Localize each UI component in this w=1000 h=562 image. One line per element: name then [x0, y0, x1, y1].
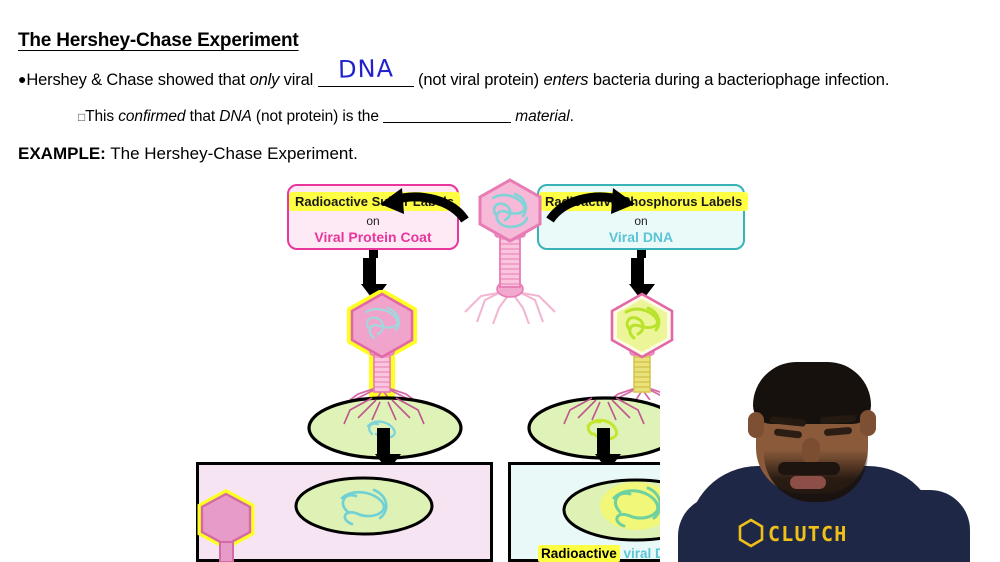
example-text: The Hershey-Chase Experiment.: [106, 144, 358, 163]
sub-italic-confirmed: confirmed: [118, 108, 185, 125]
bullet-text-mid2: (not viral protein): [414, 71, 544, 89]
left-box-stub: [369, 250, 378, 258]
fill-in-blank-dna[interactable]: DNA: [318, 68, 414, 87]
presenter-mustache: [778, 462, 840, 475]
main-bullet-line: ●Hershey & Chase showed that only viral …: [18, 68, 889, 90]
presenter-nose: [802, 438, 820, 464]
presenter-ear-left: [748, 412, 764, 438]
presenter-mouth: [790, 476, 826, 489]
sub-italic-material: material: [515, 108, 569, 125]
sub-text-before: This: [85, 108, 118, 125]
clutch-hexagon-logo-icon: [738, 518, 764, 548]
right-panel-caption-highlight: Radioactive: [538, 545, 620, 562]
sub-italic-dna: DNA: [219, 108, 251, 125]
sub-text-after: .: [570, 108, 574, 125]
bullet-text-after: bacteria during a bacteriophage infectio…: [588, 71, 889, 89]
left-panel-contents: [196, 462, 493, 562]
arrow-to-right-box: [545, 186, 635, 236]
example-line: EXAMPLE: The Hershey-Chase Experiment.: [18, 144, 358, 164]
bullet-italic-enters: enters: [543, 71, 588, 89]
sub-text-mid1: that: [185, 108, 219, 125]
arrow-to-left-box: [380, 186, 470, 236]
page-title: The Hershey-Chase Experiment: [18, 30, 299, 52]
bullet-text-before: Hershey & Chase showed that: [26, 71, 249, 89]
fill-in-blank-genetic[interactable]: [383, 108, 511, 123]
clutch-logo-text: CLUTCH: [768, 522, 847, 546]
lecture-slide: The Hershey-Chase Experiment ●Hershey & …: [0, 0, 1000, 562]
right-box-stub: [637, 250, 646, 258]
example-label: EXAMPLE:: [18, 144, 106, 163]
presenter-webcam: CLUTCH: [660, 350, 1000, 562]
bullet-italic-only: only: [250, 71, 280, 89]
sub-text-mid2: (not protein) is the: [252, 108, 383, 125]
presenter-ear-right: [860, 410, 876, 436]
bullet-text-mid1: viral: [279, 71, 317, 89]
handwritten-answer: DNA: [337, 54, 393, 83]
sub-bullet-line: □This confirmed that DNA (not protein) i…: [78, 108, 574, 126]
